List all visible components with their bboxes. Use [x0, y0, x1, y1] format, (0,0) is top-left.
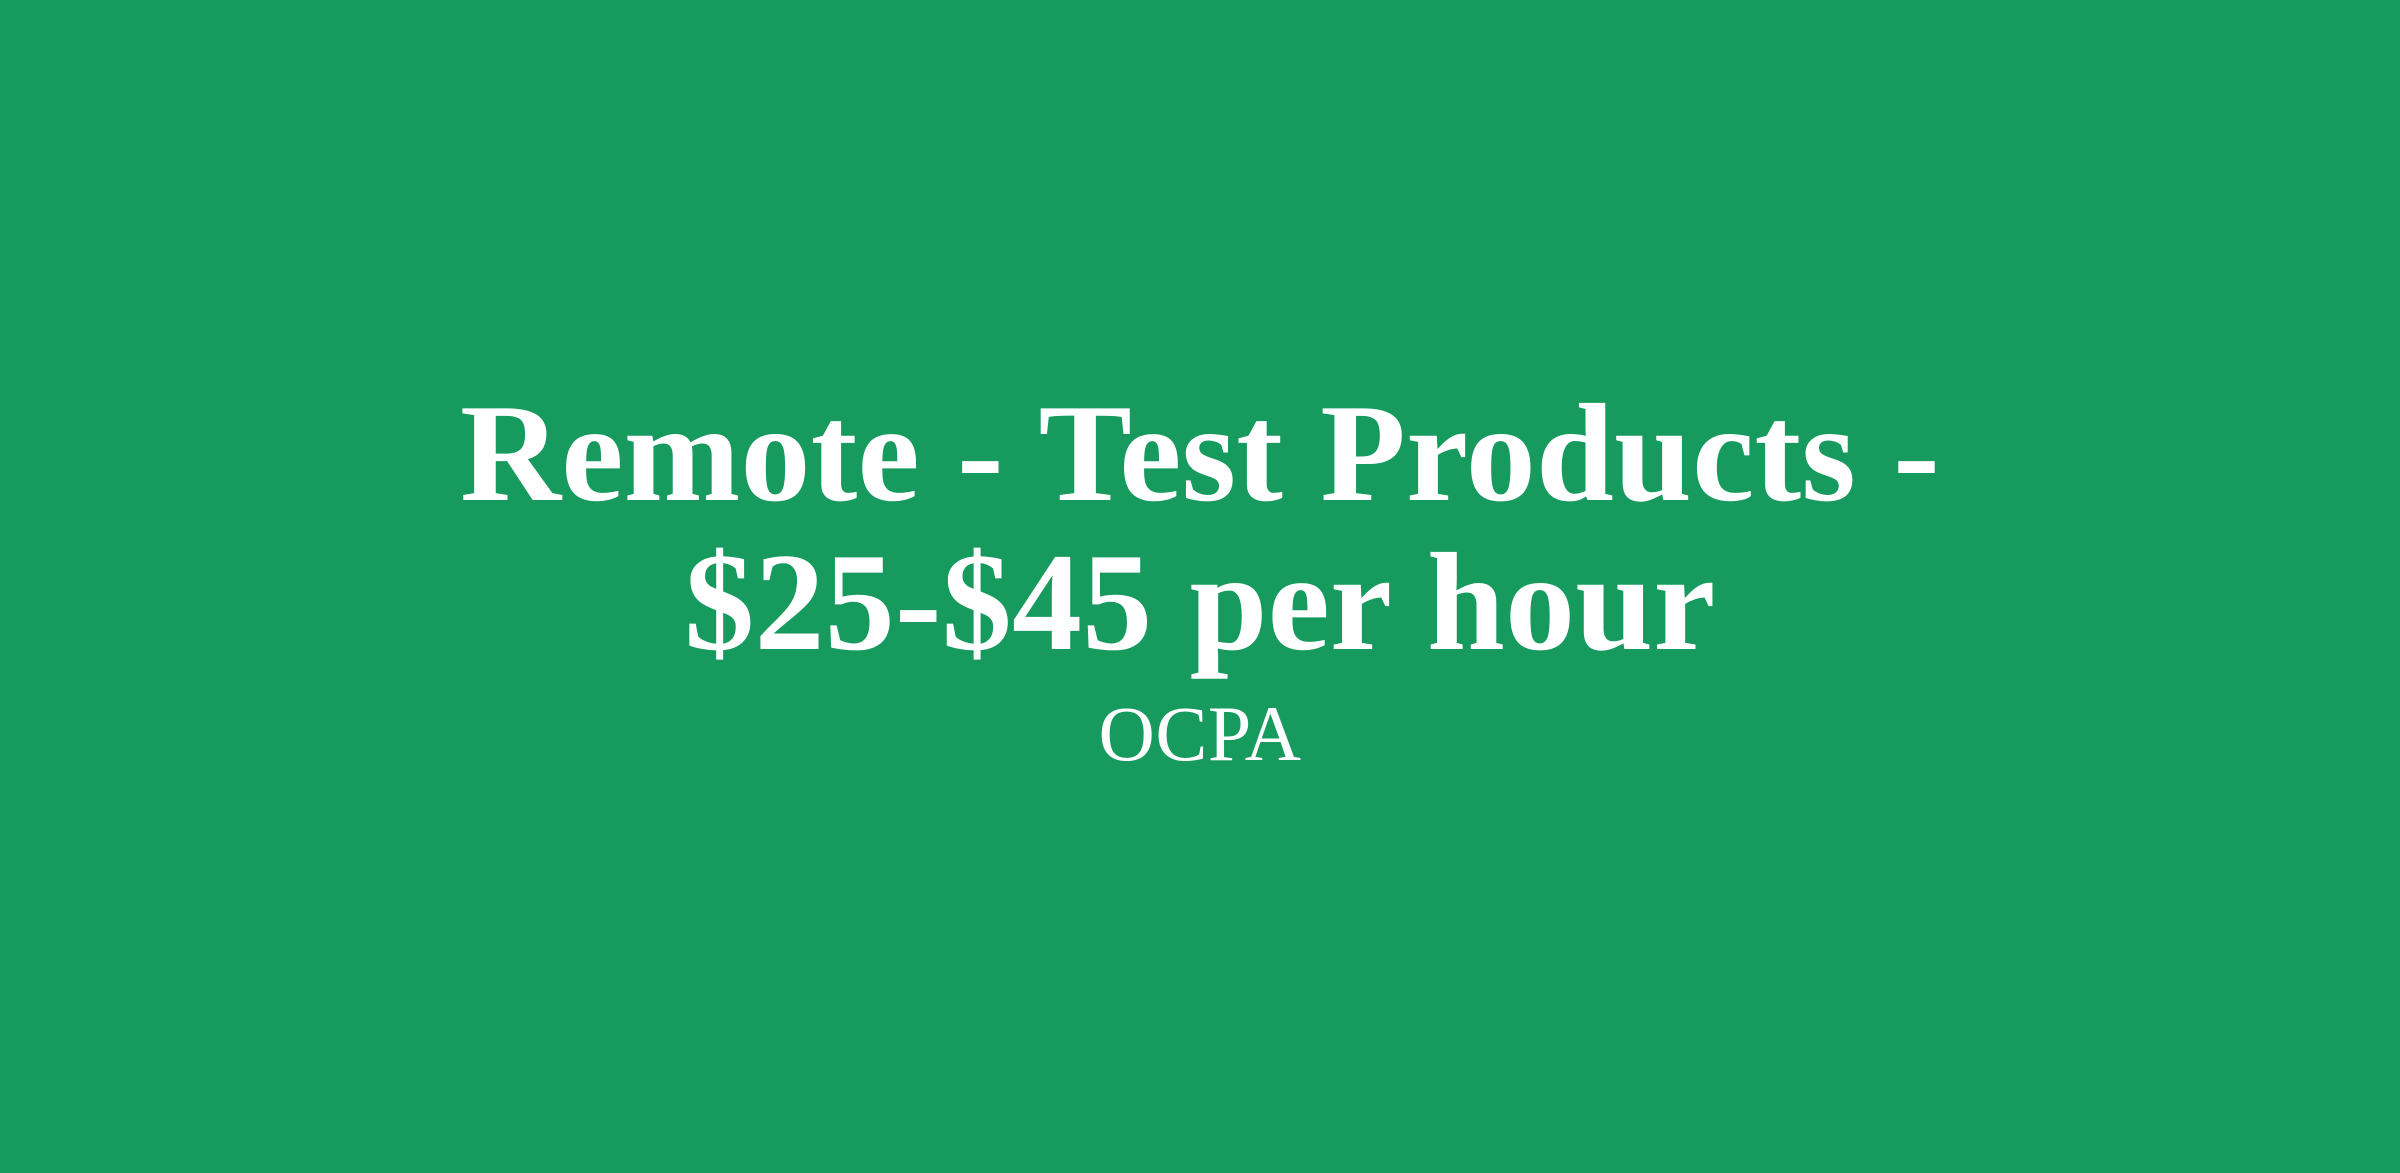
banner-subtitle: OCPA [1099, 691, 1302, 777]
promo-banner: Remote - Test Products - $25-$45 per hou… [0, 0, 2400, 1173]
banner-content: Remote - Test Products - $25-$45 per hou… [320, 380, 2080, 777]
banner-title: Remote - Test Products - $25-$45 per hou… [320, 380, 2080, 677]
